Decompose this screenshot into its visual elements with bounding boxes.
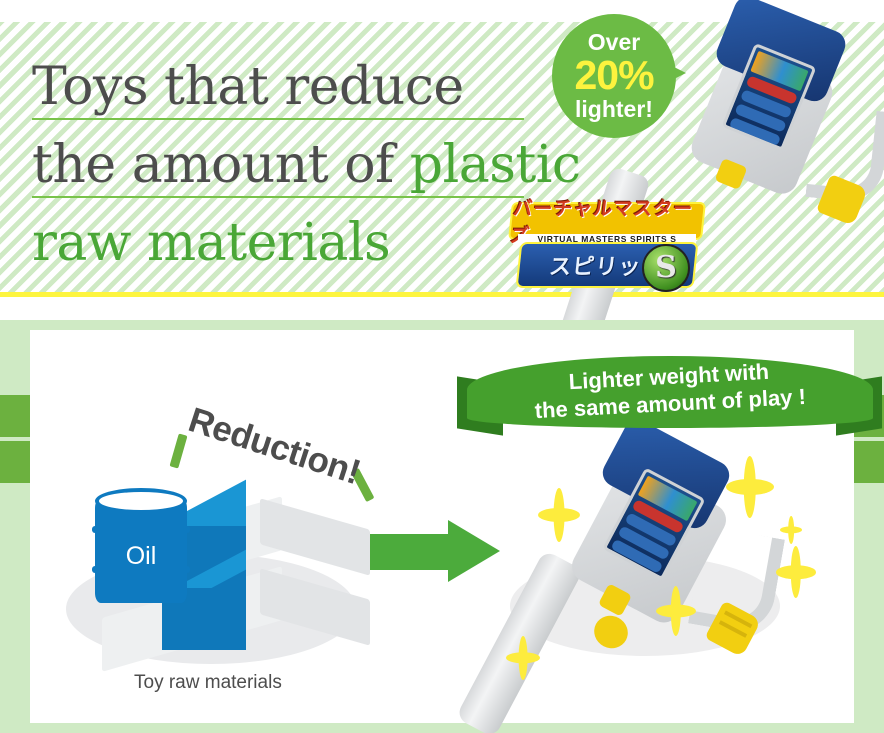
- logo-s-mark-text: S: [655, 253, 677, 283]
- sparkle-icon: [506, 636, 540, 680]
- sparkle-icon: [538, 488, 580, 542]
- sparkle-icon: [776, 546, 816, 598]
- oil-drum-lid: [95, 488, 187, 514]
- oil-drum-icon: Oil: [95, 488, 187, 610]
- oil-drum-label: Oil: [95, 544, 187, 569]
- oil-drum-rib: [92, 526, 190, 533]
- raw-materials-caption: Toy raw materials: [134, 672, 282, 694]
- title-line-2-accent: plastic: [410, 135, 581, 195]
- product-logo: バーチャルマスターズ VIRTUAL MASTERS SPIRITS S スピリ…: [512, 204, 702, 288]
- lighter-badge: [552, 14, 676, 138]
- title-line-3: raw materials: [32, 204, 552, 282]
- arrow-shaft: [370, 534, 454, 570]
- title-line-2: the amount of plastic: [32, 126, 552, 204]
- ribbon-text: Lighter weight with the same amount of p…: [533, 356, 807, 428]
- page-title: Toys that reduce the amount of plastic r…: [32, 48, 552, 282]
- title-line-1: Toys that reduce: [32, 48, 552, 126]
- logo-s-mark-icon: S: [642, 244, 690, 292]
- finished-toy-illustration: [480, 420, 830, 720]
- title-line-2-plain: the amount of: [32, 135, 410, 195]
- white-block-right: [260, 568, 370, 646]
- logo-katakana-top: バーチャルマスターズ: [510, 204, 704, 238]
- sparkle-icon: [726, 456, 774, 518]
- sparkle-icon: [656, 586, 696, 636]
- toy-button-round: [588, 610, 633, 654]
- infographic-root: Toys that reduce the amount of plastic r…: [0, 0, 884, 733]
- logo-romaji-subtitle: VIRTUAL MASTERS SPIRITS S: [518, 234, 696, 244]
- ribbon-body: Lighter weight with the same amount of p…: [467, 356, 873, 428]
- ribbon-banner: Lighter weight with the same amount of p…: [455, 356, 884, 438]
- sparkle-icon: [780, 516, 802, 544]
